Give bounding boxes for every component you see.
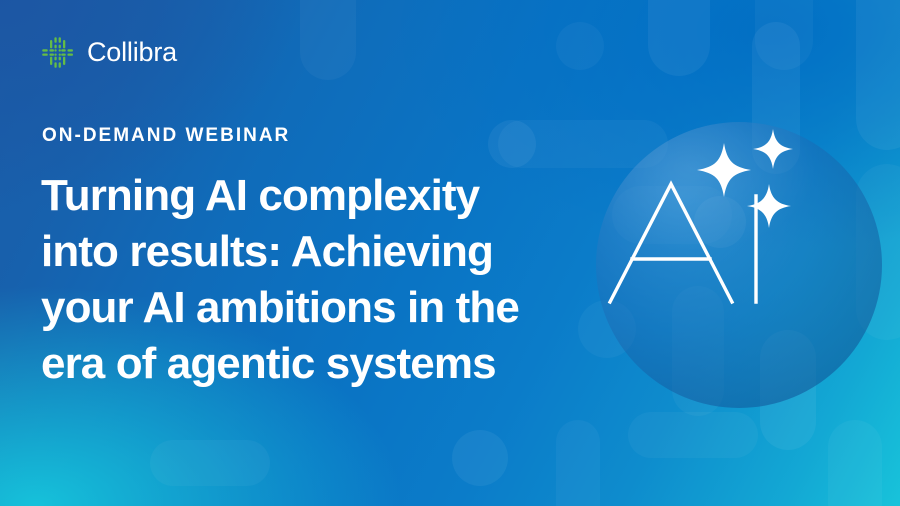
ai-sparkle-circle-graphic [596,122,882,408]
collibra-wordmark: Collibra [87,39,177,66]
headline-line: your AI ambitions in the [41,280,601,336]
headline-line: era of agentic systems [41,336,601,392]
sparkle-large-icon [697,143,751,197]
collibra-logo[interactable]: Collibra [41,36,177,69]
sparkle-medium-icon [747,184,791,228]
letter-a-icon [610,184,732,302]
sparkle-small-icon [753,129,793,169]
collibra-grid-logo-icon [41,36,74,69]
headline-line: into results: Achieving [41,224,601,280]
headline-line: Turning AI complexity [41,168,601,224]
webinar-promo-banner: Collibra ON-DEMAND WEBINAR Turning AI co… [0,0,900,506]
page-title: Turning AI complexity into results: Achi… [41,168,601,392]
eyebrow-label: ON-DEMAND WEBINAR [42,126,290,145]
